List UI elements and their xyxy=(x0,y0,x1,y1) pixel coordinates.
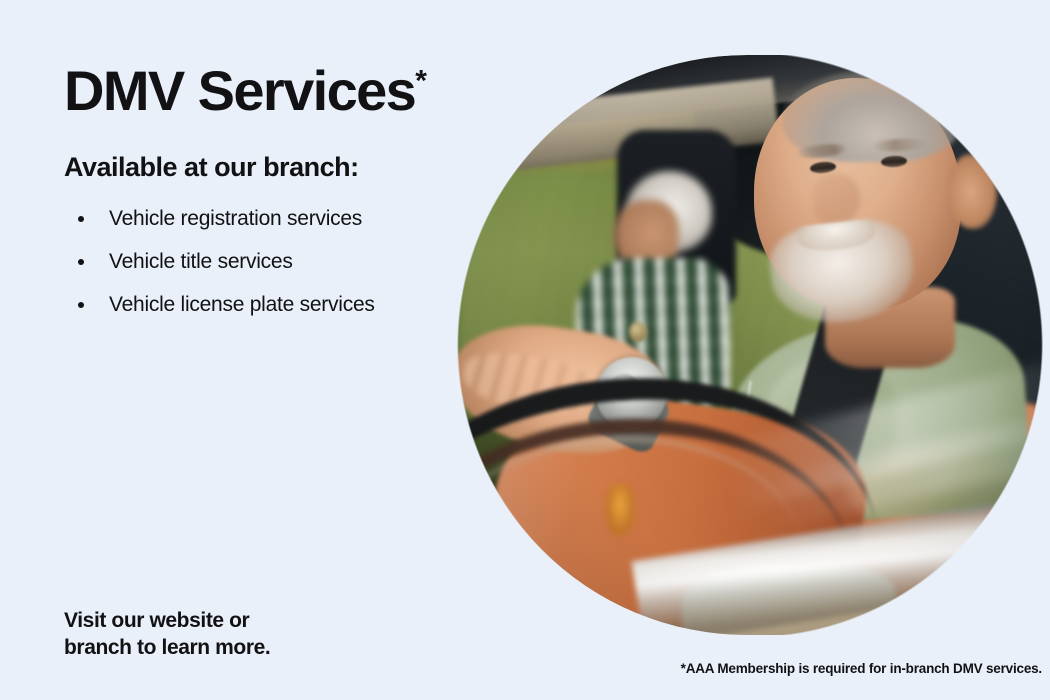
photo-vignette xyxy=(457,55,1050,635)
content-column: DMV Services* Available at our branch: V… xyxy=(64,0,464,700)
cta-line-1: Visit our website or xyxy=(64,608,270,635)
photo-canvas xyxy=(457,55,1050,635)
bullet-icon xyxy=(78,302,84,308)
title-asterisk: * xyxy=(415,64,427,97)
footnote-disclaimer: *AAA Membership is required for in-branc… xyxy=(681,661,1042,676)
cta-line-2: branch to learn more. xyxy=(64,635,270,662)
driving-couple-photo xyxy=(457,55,1050,635)
services-list: Vehicle registration services Vehicle ti… xyxy=(78,208,375,337)
bullet-icon xyxy=(78,259,84,265)
call-to-action: Visit our website or branch to learn mor… xyxy=(64,608,270,662)
list-item-label: Vehicle license plate services xyxy=(109,293,375,316)
dmv-services-banner: DMV Services* Available at our branch: V… xyxy=(0,0,1050,700)
list-item-label: Vehicle title services xyxy=(109,250,293,273)
list-item-label: Vehicle registration services xyxy=(109,207,362,230)
list-item: Vehicle registration services xyxy=(78,208,375,229)
subheading: Available at our branch: xyxy=(64,152,359,183)
page-title-text: DMV Services xyxy=(64,59,415,122)
bullet-icon xyxy=(78,216,84,222)
page-title: DMV Services* xyxy=(64,62,427,121)
list-item: Vehicle license plate services xyxy=(78,294,375,315)
list-item: Vehicle title services xyxy=(78,251,375,272)
